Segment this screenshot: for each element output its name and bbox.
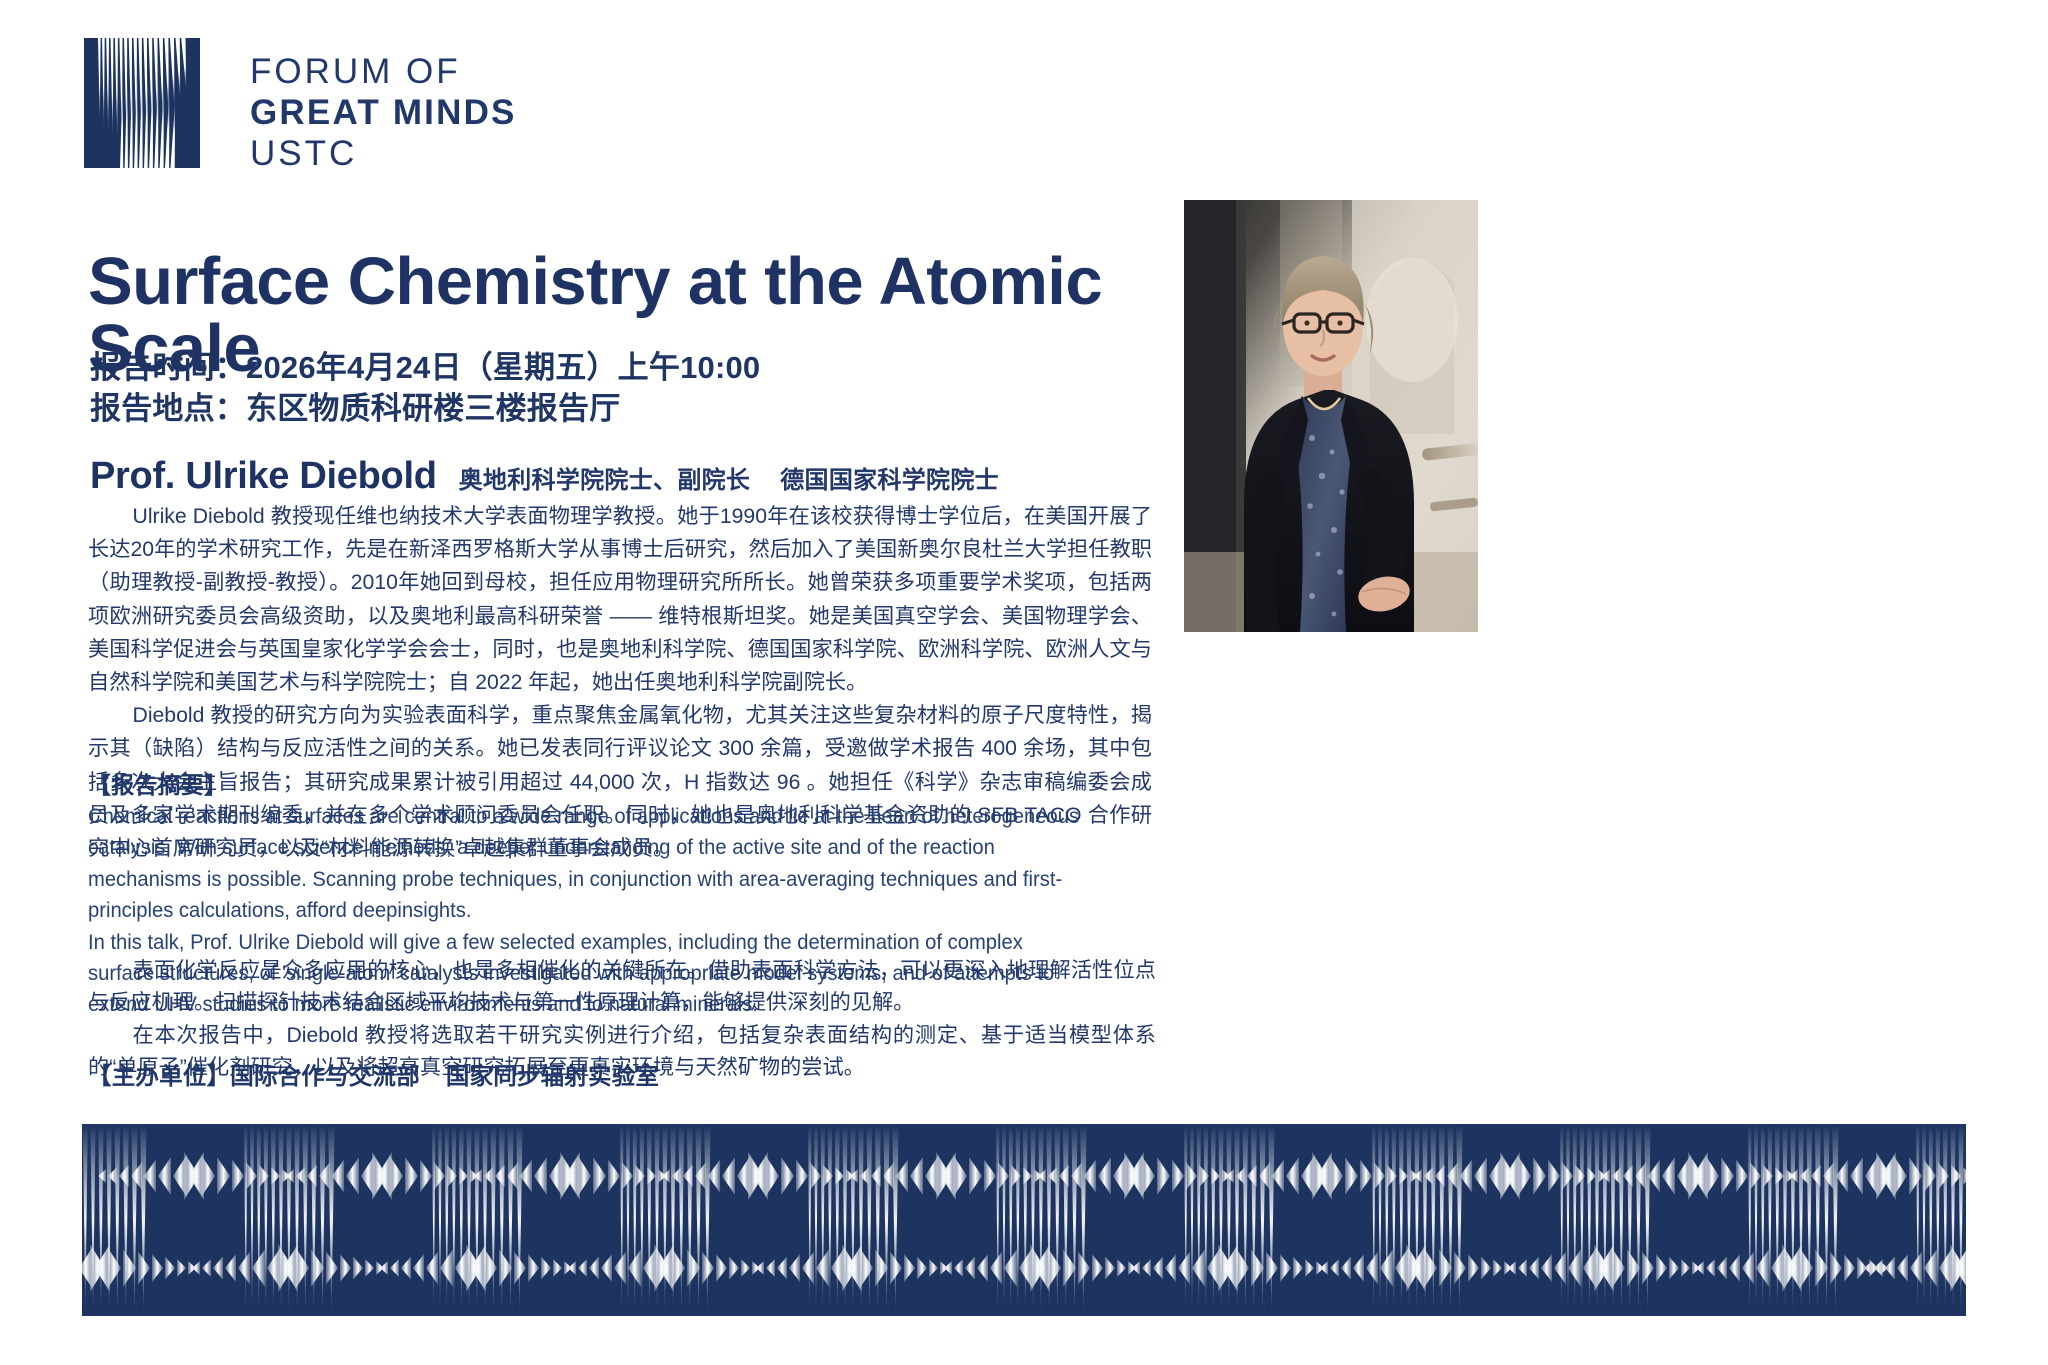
- logo-line-2: GREAT MINDS: [250, 95, 517, 130]
- host-label: 【主办单位】: [88, 1063, 230, 1089]
- poster-canvas: FORUM OF GREAT MINDS USTC Surface Chemis…: [0, 0, 2048, 1365]
- logo-line-3: USTC: [250, 136, 517, 171]
- abstract-heading: 【报告摘要】: [88, 766, 227, 800]
- decorative-bottom-band: [82, 1124, 1966, 1316]
- speaker-title-2: 德国国家科学院院士: [780, 467, 999, 494]
- speaker-heading: Prof. Ulrike Diebold 奥地利科学院院士、副院长德国国家科学院…: [90, 455, 999, 498]
- host-org-2: 国家同步辐射实验室: [446, 1063, 659, 1089]
- speaker-title-1: 奥地利科学院院士、副院长: [459, 467, 751, 494]
- bio-paragraph-1: Ulrike Diebold 教授现任维也纳技术大学表面物理学教授。她于1990…: [88, 500, 1152, 699]
- speaker-name: Prof. Ulrike Diebold: [90, 455, 437, 498]
- logo-fan-mark-icon: [84, 38, 200, 168]
- forum-of-great-minds-logo: FORUM OF GREAT MINDS USTC: [84, 38, 517, 171]
- speaker-affiliations: 奥地利科学院院士、副院长德国国家科学院院士: [459, 460, 999, 495]
- talk-time: 报告时间：2026年4月24日（星期五）上午10:00: [90, 348, 760, 389]
- abstract-en-paragraph-1: Chemical reactions at surfaces are centr…: [88, 800, 1090, 926]
- host-line: 【主办单位】国际合作与交流部国家同步辐射实验室: [88, 1057, 659, 1091]
- speaker-photo: [1184, 200, 1478, 632]
- talk-place: 报告地点：东区物质科研楼三楼报告厅: [90, 389, 760, 430]
- host-org-1: 国际合作与交流部: [230, 1063, 420, 1089]
- talk-meta: 报告时间：2026年4月24日（星期五）上午10:00 报告地点：东区物质科研楼…: [90, 348, 760, 430]
- logo-line-1: FORUM OF: [250, 54, 517, 89]
- abstract-cn-paragraph-1: 表面化学反应是众多应用的核心，也是多相催化的关键所在。借助表面科学方法，可以更深…: [88, 955, 1156, 1020]
